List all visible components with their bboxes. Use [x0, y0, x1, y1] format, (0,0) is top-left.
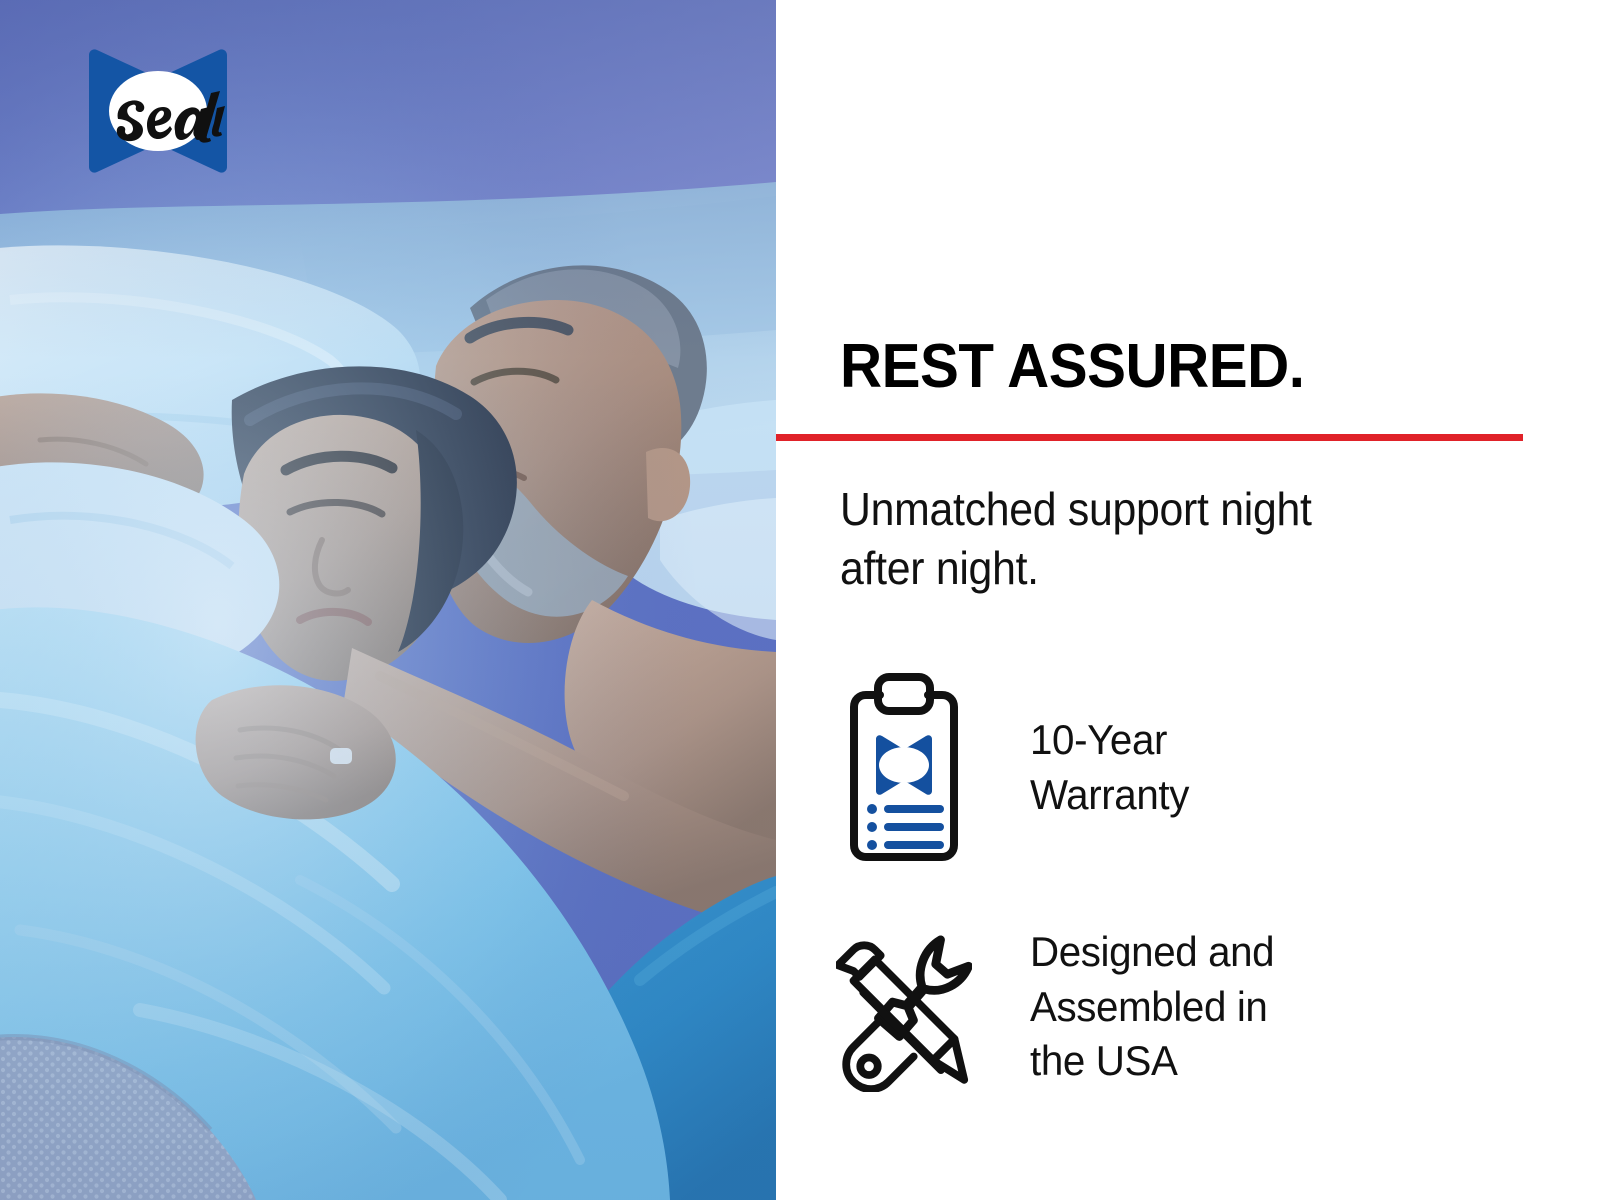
sealy-logo [85, 45, 231, 177]
feature-warranty-label: 10-Year Warranty [1030, 713, 1189, 822]
pencil-wrench-icon [836, 922, 972, 1092]
logo-registered-mark [195, 134, 201, 140]
sealy-rest-assured-ad: REST ASSURED. Unmatched support night af… [0, 0, 1600, 1200]
page-title: REST ASSURED. [840, 336, 1305, 398]
content-panel: REST ASSURED. Unmatched support night af… [776, 0, 1600, 1200]
feature-designed-assembled: Designed and Assembled in the USA [836, 912, 1284, 1102]
bedroom-photo [0, 0, 776, 1200]
photo-illustration [0, 0, 776, 1200]
red-divider [776, 434, 1523, 441]
feature-warranty: 10-Year Warranty [836, 668, 1196, 868]
subheadline: Unmatched support night after night. [840, 480, 1324, 598]
clipboard-warranty-icon [836, 673, 972, 863]
feature-designed-assembled-label: Designed and Assembled in the USA [1030, 925, 1274, 1089]
sealy-bowtie-logo-icon [85, 45, 231, 177]
